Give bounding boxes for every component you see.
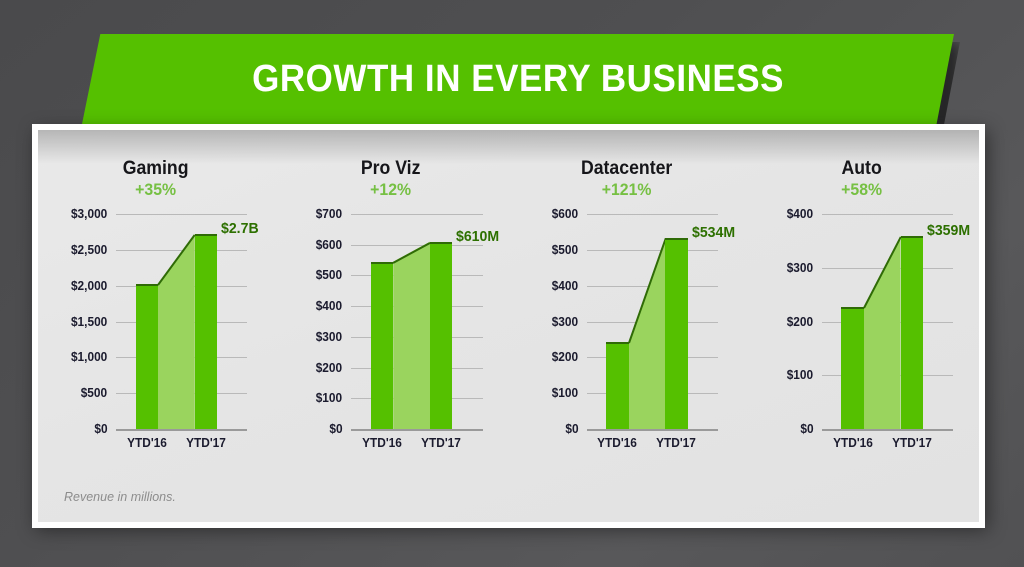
y-axis-tick-label: $500 xyxy=(551,243,577,257)
gridline xyxy=(116,214,247,215)
y-axis-tick-label: $2,500 xyxy=(71,243,107,257)
plot-area: $359M xyxy=(822,214,953,429)
x-axis-tick-label: YTD'17 xyxy=(421,436,461,450)
gridline xyxy=(351,245,482,246)
y-axis-tick-label: $200 xyxy=(551,350,577,364)
x-axis-tick-label: YTD'16 xyxy=(362,436,402,450)
bar-YTD17 xyxy=(665,238,687,429)
y-axis-tick-label: $600 xyxy=(316,238,342,252)
x-axis-tick-label: YTD'17 xyxy=(186,436,226,450)
y-axis-labels: $0$500$1,000$1,500$2,000$2,500$3,000 xyxy=(38,214,112,429)
chart-title: Gaming xyxy=(46,158,265,179)
bar-YTD16 xyxy=(841,307,863,429)
x-axis-tick-label: YTD'16 xyxy=(597,436,637,450)
y-axis-tick-label: $0 xyxy=(800,422,813,436)
x-axis-tick-label: YTD'16 xyxy=(127,436,167,450)
content-panel-inner: Gaming+35%$0$500$1,000$1,500$2,000$2,500… xyxy=(38,130,979,522)
content-panel: Gaming+35%$0$500$1,000$1,500$2,000$2,500… xyxy=(32,124,985,528)
x-axis-tick-label: YTD'17 xyxy=(892,436,932,450)
bar-YTD16 xyxy=(371,262,393,429)
charts-row: Gaming+35%$0$500$1,000$1,500$2,000$2,500… xyxy=(38,158,979,458)
y-axis-tick-label: $100 xyxy=(787,368,813,382)
bar-YTD16 xyxy=(136,284,158,429)
y-axis-tick-label: $100 xyxy=(551,386,577,400)
chart-growth-percent: +58% xyxy=(752,180,971,200)
chart-growth-percent: +121% xyxy=(517,180,736,200)
y-axis-tick-label: $200 xyxy=(787,315,813,329)
title-banner-shape: GROWTH IN EVERY BUSINESS xyxy=(82,34,954,124)
bar-YTD16 xyxy=(606,342,628,429)
y-axis-tick-label: $1,500 xyxy=(71,315,107,329)
x-axis-tick-label: YTD'16 xyxy=(833,436,873,450)
y-axis-tick-label: $400 xyxy=(551,279,577,293)
chart-auto: Auto+58%$0$100$200$300$400$359MYTD'16YTD… xyxy=(744,158,979,458)
axis-baseline xyxy=(822,429,953,431)
y-axis-tick-label: $0 xyxy=(330,422,343,436)
x-axis-labels: YTD'16YTD'17 xyxy=(587,436,718,456)
value-label: $534M xyxy=(692,224,735,241)
y-axis-tick-label: $500 xyxy=(316,268,342,282)
slide-root: GROWTH IN EVERY BUSINESS Gaming+35%$0$50… xyxy=(0,0,1024,567)
axis-baseline xyxy=(351,429,482,431)
slide-title: GROWTH IN EVERY BUSINESS xyxy=(252,58,784,101)
plot-area: $534M xyxy=(587,214,718,429)
gridline xyxy=(587,214,718,215)
y-axis-tick-label: $600 xyxy=(551,207,577,221)
y-axis-tick-label: $3,000 xyxy=(71,207,107,221)
bar-YTD17 xyxy=(430,242,452,429)
axis-baseline xyxy=(587,429,718,431)
y-axis-labels: $0$100$200$300$400$500$600 xyxy=(509,214,583,429)
trend-fill-area xyxy=(158,214,195,429)
gridline xyxy=(822,214,953,215)
y-axis-labels: $0$100$200$300$400$500$600$700 xyxy=(273,214,347,429)
y-axis-tick-label: $0 xyxy=(565,422,578,436)
gridline xyxy=(351,214,482,215)
y-axis-tick-label: $400 xyxy=(787,207,813,221)
chart-plot: $0$100$200$300$400$359M xyxy=(744,214,979,429)
value-label: $610M xyxy=(456,228,499,245)
y-axis-tick-label: $2,000 xyxy=(71,279,107,293)
y-axis-tick-label: $0 xyxy=(94,422,107,436)
y-axis-tick-label: $400 xyxy=(316,299,342,313)
y-axis-tick-label: $300 xyxy=(787,261,813,275)
y-axis-tick-label: $700 xyxy=(316,207,342,221)
axis-baseline xyxy=(116,429,247,431)
chart-datacenter: Datacenter+121%$0$100$200$300$400$500$60… xyxy=(509,158,744,458)
bar-YTD17 xyxy=(195,234,217,429)
x-axis-labels: YTD'16YTD'17 xyxy=(351,436,482,456)
chart-title: Auto xyxy=(752,158,971,179)
y-axis-tick-label: $200 xyxy=(316,361,342,375)
x-axis-labels: YTD'16YTD'17 xyxy=(822,436,953,456)
chart-plot: $0$100$200$300$400$500$600$700$610M xyxy=(273,214,508,429)
x-axis-tick-label: YTD'17 xyxy=(657,436,697,450)
chart-plot: $0$100$200$300$400$500$600$534M xyxy=(509,214,744,429)
y-axis-tick-label: $100 xyxy=(316,391,342,405)
bar-YTD17 xyxy=(901,236,923,429)
x-axis-labels: YTD'16YTD'17 xyxy=(116,436,247,456)
value-label: $2.7B xyxy=(221,220,259,237)
chart-pro-viz: Pro Viz+12%$0$100$200$300$400$500$600$70… xyxy=(273,158,508,458)
y-axis-tick-label: $1,000 xyxy=(71,350,107,364)
y-axis-tick-label: $500 xyxy=(81,386,107,400)
chart-title: Pro Viz xyxy=(281,158,500,179)
plot-area: $610M xyxy=(351,214,482,429)
y-axis-tick-label: $300 xyxy=(316,330,342,344)
chart-gaming: Gaming+35%$0$500$1,000$1,500$2,000$2,500… xyxy=(38,158,273,458)
chart-growth-percent: +12% xyxy=(281,180,500,200)
chart-plot: $0$500$1,000$1,500$2,000$2,500$3,000$2.7… xyxy=(38,214,273,429)
plot-area: $2.7B xyxy=(116,214,247,429)
footnote-text: Revenue in millions. xyxy=(64,490,176,504)
y-axis-tick-label: $300 xyxy=(551,315,577,329)
title-banner: GROWTH IN EVERY BUSINESS xyxy=(82,34,954,124)
chart-growth-percent: +35% xyxy=(46,180,265,200)
y-axis-labels: $0$100$200$300$400 xyxy=(744,214,818,429)
gridline xyxy=(587,250,718,251)
chart-title: Datacenter xyxy=(517,158,736,179)
value-label: $359M xyxy=(927,222,970,239)
